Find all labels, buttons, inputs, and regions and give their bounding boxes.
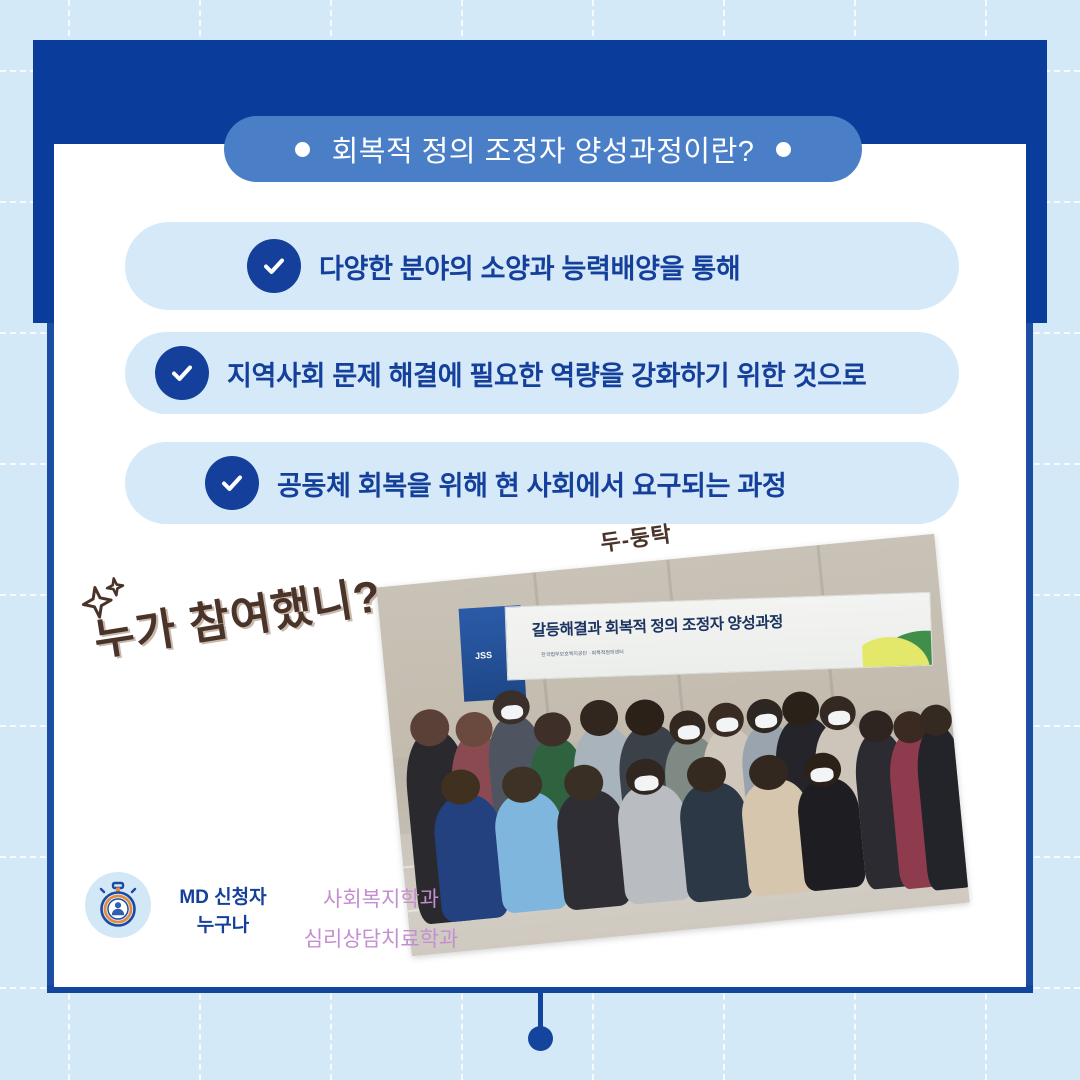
applicant-label: MD 신청자 누구나 [168,884,278,939]
bullet-item-1: 다양한 분야의 소양과 능력배양을 통해 [125,222,959,310]
stopwatch-person-icon [85,872,151,938]
poster-canvas: 회복적 정의 조정자 양성과정이란? 다양한 분야의 소양과 능력배양을 통해 … [0,0,1080,1080]
title-dot-left-icon [295,142,310,157]
bullet-text-2: 지역사회 문제 해결에 필요한 역량을 강화하기 위한 것으로 [227,354,866,393]
applicant-label-line1: MD 신청자 [168,884,278,912]
page-title: 회복적 정의 조정자 양성과정이란? [332,128,755,170]
applicant-label-line2: 누구나 [168,912,278,940]
bullet-item-3: 공동체 회복을 위해 현 사회에서 요구되는 과정 [125,442,959,524]
department-item-2: 심리상담치료학과 [296,920,466,960]
department-list: 사회복지학과 심리상담치료학과 [296,880,466,960]
title-dot-right-icon [776,142,791,157]
check-circle-icon [205,456,259,510]
section-title-pill: 회복적 정의 조정자 양성과정이란? [224,116,862,182]
check-circle-icon [247,239,301,293]
bullet-item-2: 지역사회 문제 해결에 필요한 역량을 강화하기 위한 것으로 [125,332,959,414]
department-item-1: 사회복지학과 [296,880,466,920]
photo-banner-title: 갈등해결과 회복적 정의 조정자 양성과정 [532,610,784,641]
photo-event-banner: 갈등해결과 회복적 정의 조정자 양성과정 한국법무보호복지공단 · 회복적정의… [505,592,933,681]
photo-banner-subtitle: 한국법무보호복지공단 · 회복적정의센터 [541,648,624,658]
check-circle-icon [155,346,209,400]
bullet-text-1: 다양한 분야의 소양과 능력배양을 통해 [319,247,740,286]
plumb-dot-decoration [528,1026,553,1051]
bullet-text-3: 공동체 회복을 위해 현 사회에서 요구되는 과정 [277,464,786,503]
frame-left-border [47,323,54,992]
frame-right-border [1026,323,1033,992]
